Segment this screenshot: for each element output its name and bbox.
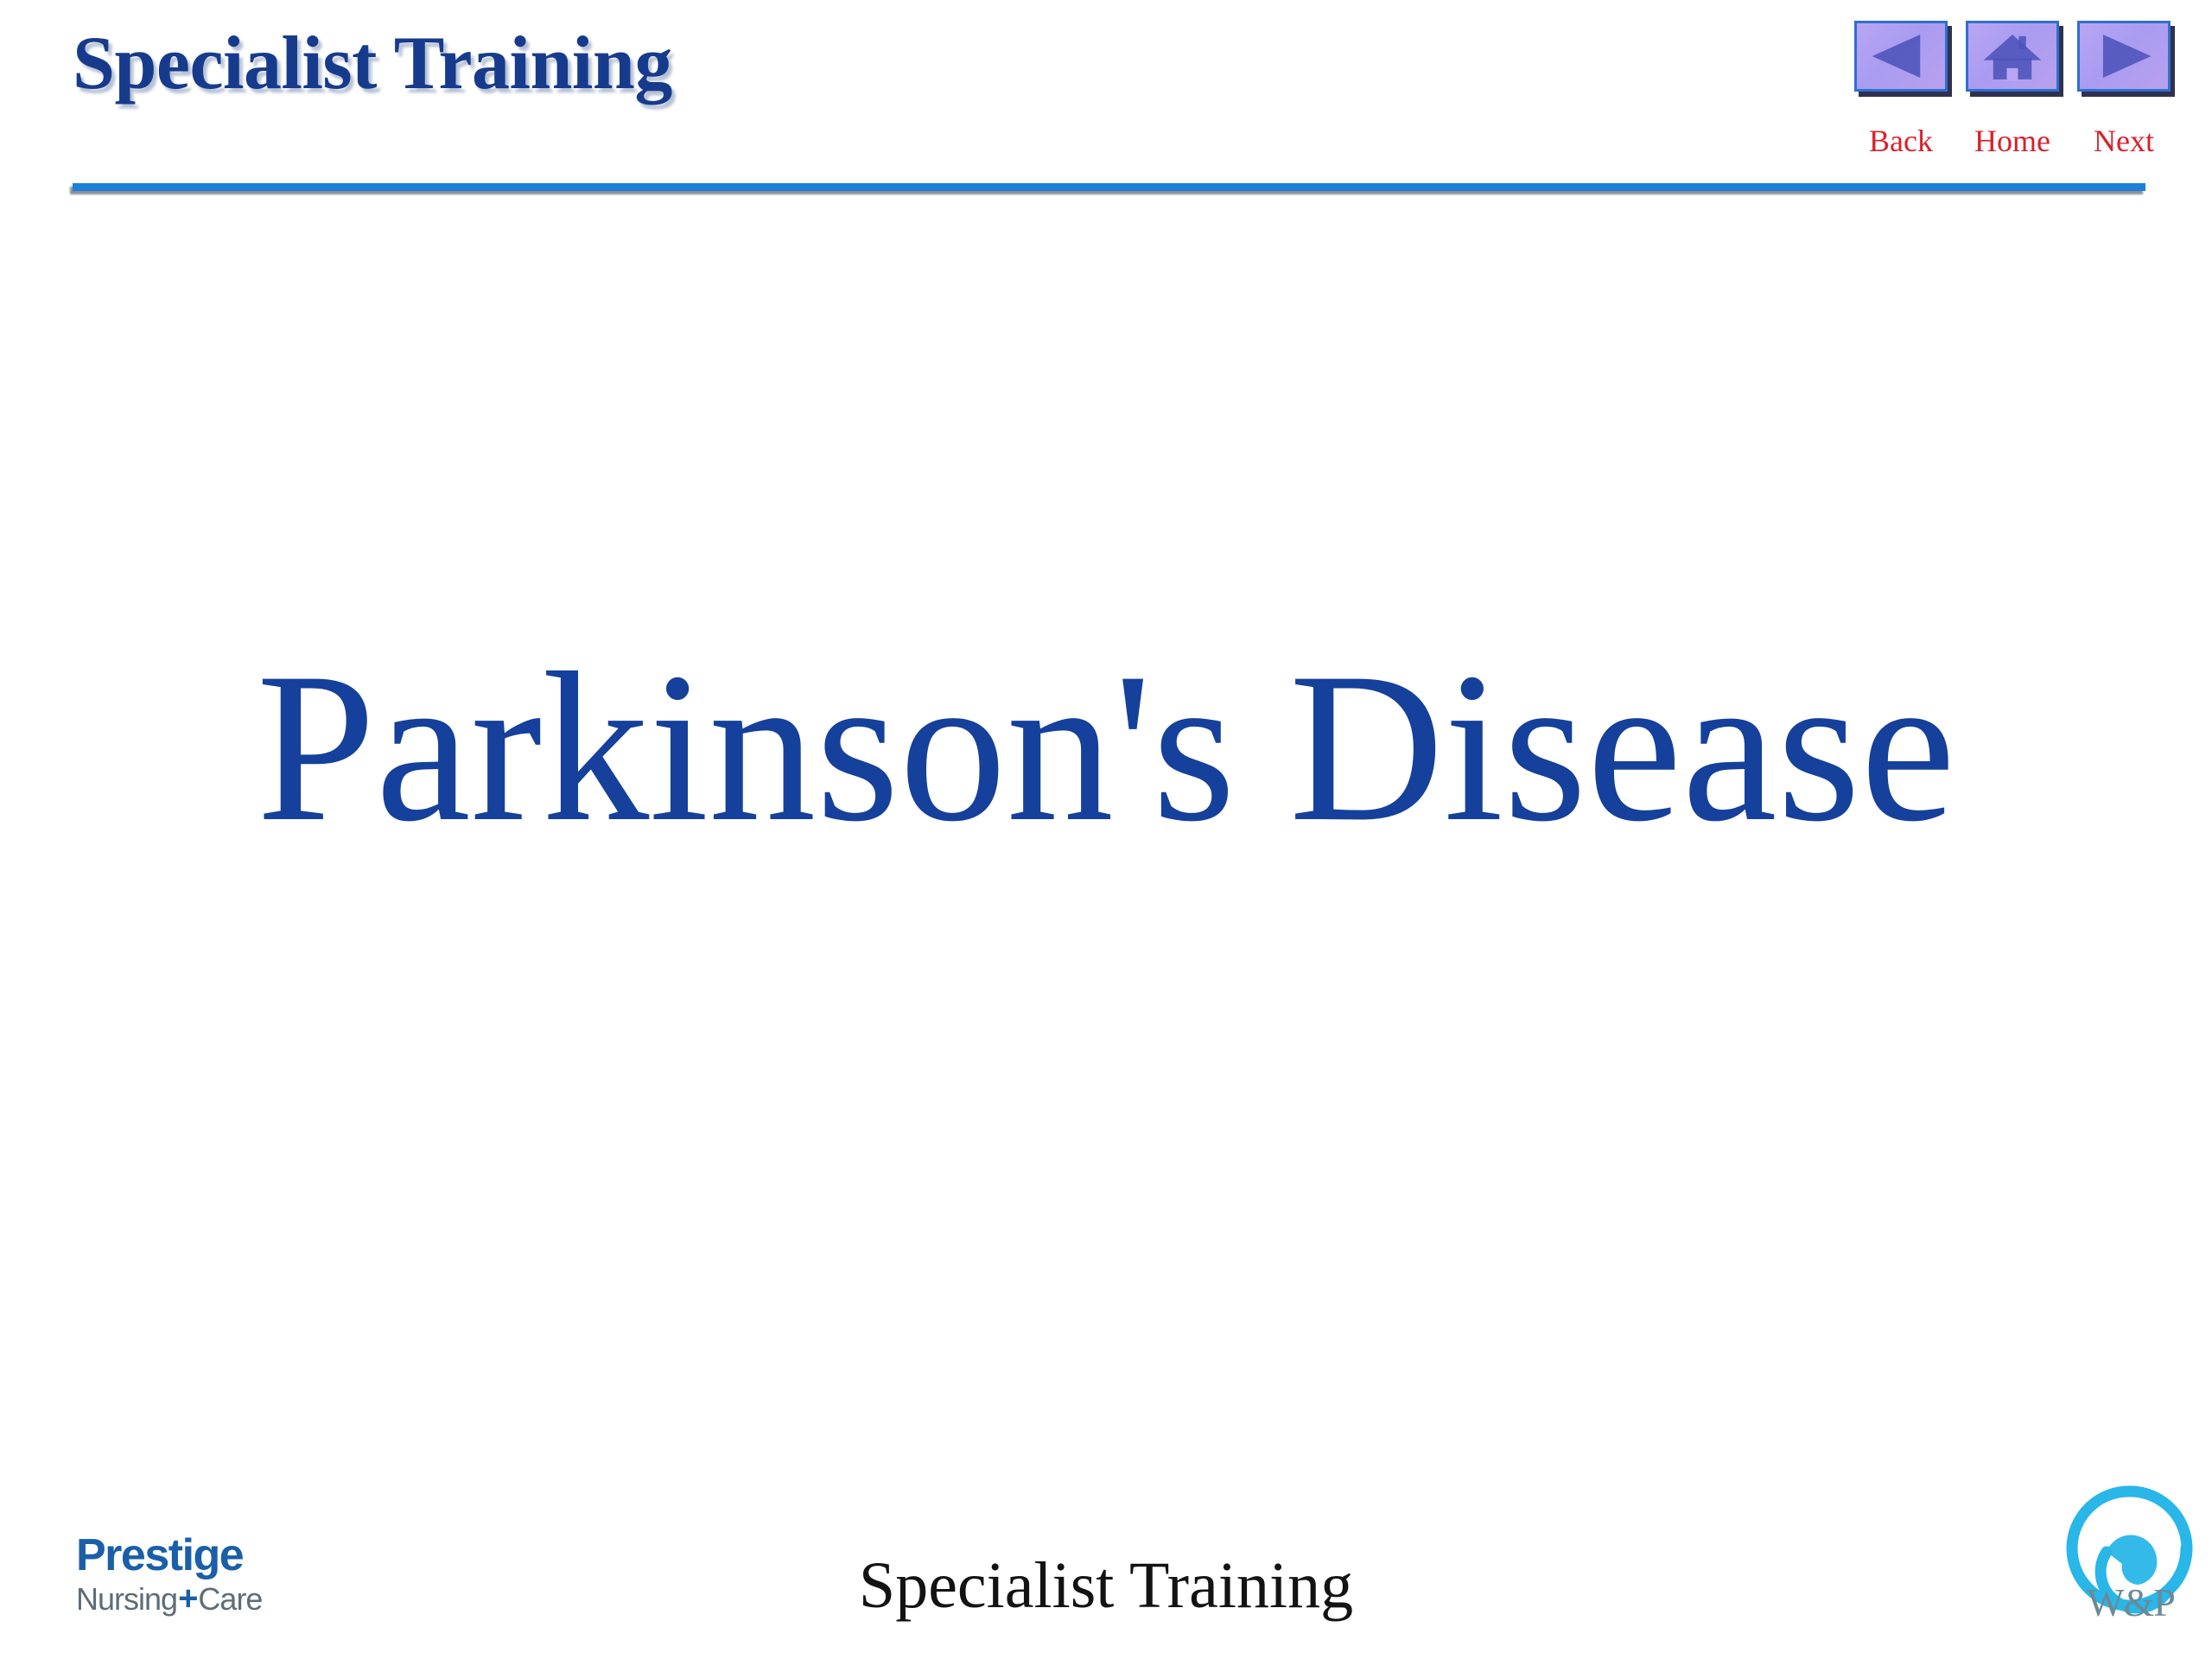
wp-logo: W&P (2055, 1469, 2207, 1656)
slide-heading: Parkinson's Disease (0, 627, 2212, 868)
next-button-label[interactable]: Next (2063, 123, 2184, 159)
wp-wordmark: W&P (2055, 1580, 2207, 1625)
back-button[interactable] (1854, 21, 1948, 92)
prestige-tagline: Nursing+Care (76, 1581, 335, 1616)
left-triangle-icon (1857, 23, 1945, 89)
house-icon (1968, 23, 2056, 89)
page-title: Specialist Training (73, 24, 672, 104)
next-button[interactable] (2077, 21, 2171, 92)
slide-canvas: Specialist Training (0, 0, 2212, 1659)
back-button-label[interactable]: Back (1840, 123, 1961, 159)
home-button-label[interactable]: Home (1952, 123, 2073, 159)
navigation-bar: Back Home Next (1839, 21, 2184, 185)
home-button[interactable] (1966, 21, 2059, 92)
prestige-tagline-care: Care (198, 1581, 262, 1617)
prestige-tagline-nursing: Nursing (76, 1581, 177, 1617)
swirl-icon (2055, 1469, 2207, 1656)
header-divider (73, 183, 2145, 191)
prestige-nursing-care-logo: Prestige Nursing+Care (76, 1533, 335, 1616)
right-triangle-icon (2080, 23, 2168, 89)
prestige-wordmark: Prestige (76, 1533, 335, 1578)
plus-icon: + (177, 1580, 198, 1618)
